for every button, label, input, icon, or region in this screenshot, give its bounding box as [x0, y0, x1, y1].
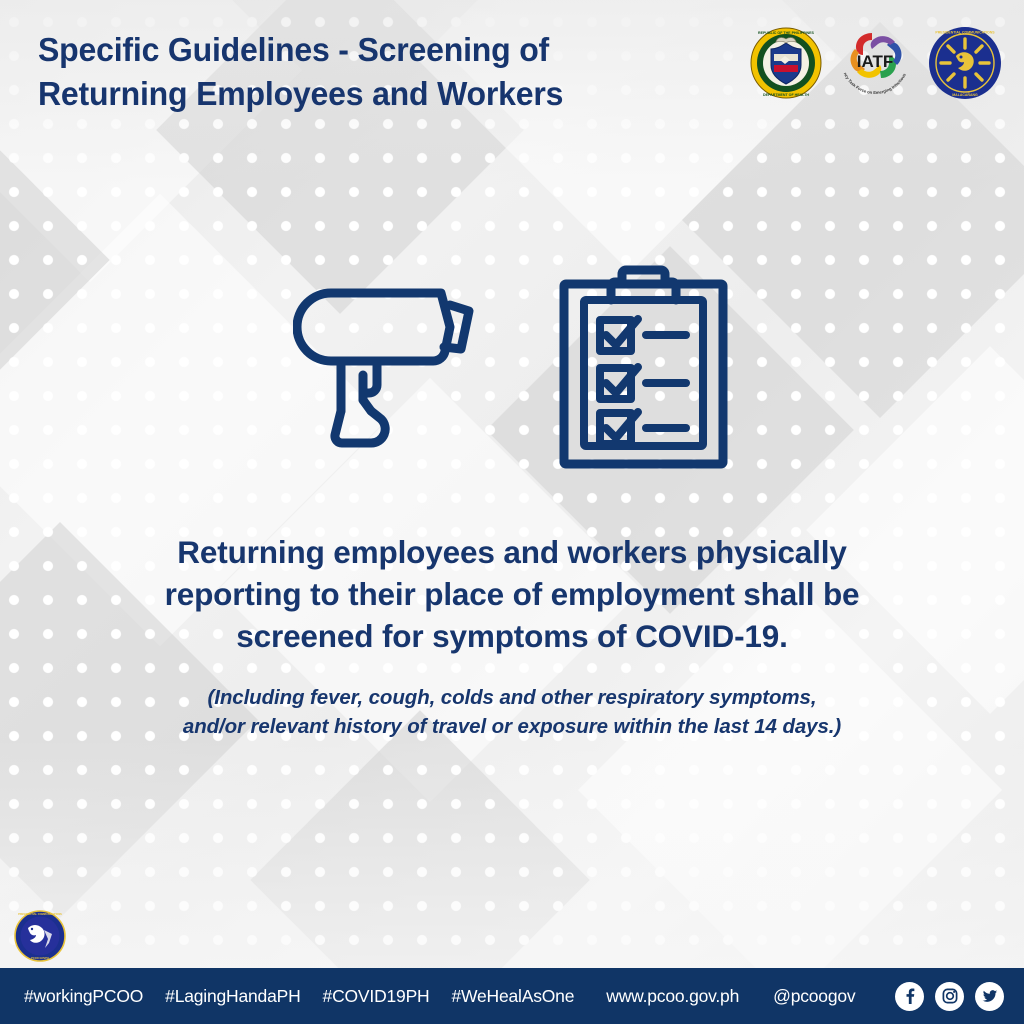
headline-line-3: screened for symptoms of COVID-19.: [62, 616, 962, 658]
svg-text:PRESIDENTIAL COMMUNICATIONS: PRESIDENTIAL COMMUNICATIONS: [935, 31, 995, 35]
note-line-1: (Including fever, cough, colds and other…: [62, 683, 962, 713]
hashtag-working-pcoo[interactable]: #workingPCOO: [24, 986, 143, 1007]
svg-text:MALACAÑANG: MALACAÑANG: [952, 92, 978, 97]
background-vignette: [0, 0, 1024, 1024]
page-title-line-1: Specific Guidelines - Screening of: [38, 28, 717, 72]
svg-text:PCOO GOVPH: PCOO GOVPH: [31, 956, 49, 960]
facebook-icon[interactable]: [895, 982, 924, 1011]
facebook-glyph: [901, 987, 919, 1005]
clarifying-note: (Including fever, cough, colds and other…: [62, 683, 962, 742]
illustration-group: [0, 255, 1024, 480]
clipboard-checklist-icon: [556, 264, 731, 472]
doh-logo: REPUBLIC OF THE PHILIPPINES DEPARTMENT O…: [750, 27, 822, 99]
headline: Returning employees and workers physical…: [62, 532, 962, 658]
hashtag-laging-handa-ph[interactable]: #LagingHandaPH: [165, 986, 300, 1007]
headline-line-1: Returning employees and workers physical…: [62, 532, 962, 574]
social-handle[interactable]: @pcoogov: [773, 986, 855, 1007]
hashtag-covid19ph[interactable]: #COVID19PH: [323, 986, 430, 1007]
header: Specific Guidelines - Screening of Retur…: [0, 0, 1024, 132]
footer-links: #workingPCOO #LagingHandaPH #COVID19PH #…: [24, 986, 855, 1007]
website-link[interactable]: www.pcoo.gov.ph: [606, 986, 739, 1007]
page-title-line-2: Returning Employees and Workers: [38, 72, 717, 116]
pcoo-seal: PRESIDENTIAL COMMUNICATIONS PCOO GOVPH: [14, 910, 66, 962]
svg-text:DEPARTMENT OF HEALTH: DEPARTMENT OF HEALTH: [763, 93, 809, 97]
page-title: Specific Guidelines - Screening of Retur…: [38, 28, 717, 116]
twitter-icon[interactable]: [975, 982, 1004, 1011]
headline-line-2: reporting to their place of employment s…: [62, 574, 962, 616]
svg-text:IATF: IATF: [857, 52, 894, 71]
main-message: Returning employees and workers physical…: [62, 532, 962, 742]
instagram-icon[interactable]: [935, 982, 964, 1011]
hashtag-we-heal-as-one[interactable]: #WeHealAsOne: [451, 986, 574, 1007]
pcoo-malacanang-logo: PRESIDENTIAL COMMUNICATIONS MALACAÑANG: [928, 26, 1002, 100]
infographic-poster: Specific Guidelines - Screening of Retur…: [0, 0, 1024, 1024]
social-icons: [895, 982, 1004, 1011]
svg-text:PRESIDENTIAL COMMUNICATIONS: PRESIDENTIAL COMMUNICATIONS: [18, 912, 62, 916]
footer-bar: #workingPCOO #LagingHandaPH #COVID19PH #…: [0, 968, 1024, 1024]
thermometer-gun-icon: [293, 265, 508, 470]
iatf-logo: IATF Inter-Agency Task Force on Emerging…: [836, 26, 914, 100]
twitter-glyph: [981, 987, 999, 1005]
instagram-glyph: [941, 987, 959, 1005]
note-line-2: and/or relevant history of travel or exp…: [62, 712, 962, 742]
agency-logos: REPUBLIC OF THE PHILIPPINES DEPARTMENT O…: [750, 26, 1002, 100]
svg-text:REPUBLIC OF THE PHILIPPINES: REPUBLIC OF THE PHILIPPINES: [758, 31, 815, 35]
